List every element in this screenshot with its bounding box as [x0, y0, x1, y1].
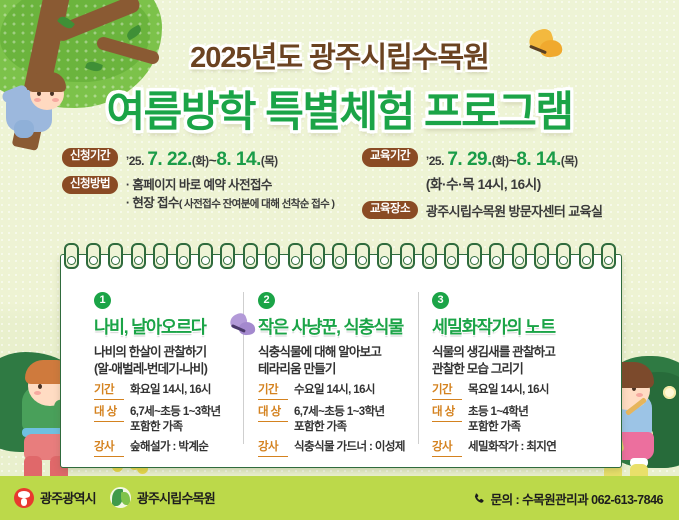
- spiral-binding: [60, 243, 620, 267]
- program-target-row: 대 상 6,7세~초등 1~3학년 포함한 가족: [94, 405, 260, 435]
- program-target-row: 대 상 초등 1~4학년 포함한 가족: [432, 405, 598, 435]
- apply-period-start: 7. 22.: [147, 149, 192, 170]
- program-period-label: 기간: [94, 383, 124, 400]
- program-target-line1: 6,7세~초등 1~3학년: [294, 406, 385, 418]
- program-period-value: 화요일 14시, 16시: [130, 383, 211, 400]
- apply-period-value: ’25. 7. 22.(화)~8. 14.(목): [126, 148, 278, 172]
- spiral-ring-icon: [512, 243, 527, 269]
- program-target-line2: 포함한 가족: [130, 421, 183, 433]
- program-teacher-value: 식충식물 가드너 : 이성제: [294, 440, 405, 457]
- program-desc-line1: 식물의 생김새를 관찰하고: [432, 345, 555, 359]
- spiral-ring-icon: [176, 243, 191, 269]
- program-period-row: 기간 화요일 14시, 16시: [94, 383, 260, 400]
- girl-sock: [630, 458, 648, 467]
- spiral-ring-icon: [332, 243, 347, 269]
- footer-logos: 광주광역시 광주시립수목원: [14, 487, 229, 508]
- eye-icon: [632, 386, 636, 391]
- spiral-ring-icon: [556, 243, 571, 269]
- phone-icon: [472, 492, 486, 506]
- program-desc-line2: (알-애벌레-번데기-나비): [94, 362, 207, 376]
- bush-right-inner: [612, 372, 679, 468]
- program-target-label: 대 상: [432, 405, 462, 422]
- program-period-value: 수요일 14시, 16시: [294, 383, 375, 400]
- spiral-ring-icon: [355, 243, 370, 269]
- edu-period-start: 7. 29.: [447, 149, 492, 170]
- footer-contact: 문의 : 수목원관리과 062-613-7846: [472, 489, 663, 508]
- butterfly-icon: [230, 314, 258, 338]
- spiral-ring-icon: [579, 243, 594, 269]
- apply-method-line1: · 홈페이지 바로 예약 사전접수: [126, 178, 272, 192]
- program-teacher-label: 강사: [258, 440, 288, 457]
- eye-icon: [38, 384, 42, 389]
- program-number-badge: 3: [432, 292, 449, 309]
- poster: 2025년도 광주시립수목원 여름방학 특별체험 프로그램 신청기간 ’25. …: [0, 0, 679, 520]
- program-period-label: 기간: [258, 383, 288, 400]
- program-card-3[interactable]: 3 세밀화작가의 노트 식물의 생김새를 관찰하고 관찰한 모습 그리기 기간 …: [432, 292, 598, 457]
- poster-title-line1: 2025년도 광주시립수목원: [0, 34, 679, 76]
- info-column-left: 신청기간 ’25. 7. 22.(화)~8. 14.(목) 신청방법 · 홈페이…: [62, 148, 362, 216]
- program-number-badge: 1: [94, 292, 111, 309]
- flower-icon: [622, 372, 635, 385]
- edu-place-row: 교육장소 광주시립수목원 방문자센터 교육실: [362, 201, 674, 220]
- spiral-ring-icon: [444, 243, 459, 269]
- program-target-line1: 초등 1~4학년: [468, 406, 528, 418]
- program-teacher-label: 강사: [432, 440, 462, 457]
- spiral-ring-icon: [153, 243, 168, 269]
- program-target-line1: 6,7세~초등 1~3학년: [130, 406, 221, 418]
- program-title: 작은 사냥꾼, 식충식물: [258, 314, 424, 339]
- program-teacher-value: 세밀화작가 : 최지연: [468, 440, 556, 457]
- program-desc-line2: 관찰한 모습 그리기: [432, 362, 523, 376]
- pencil-icon: [625, 397, 647, 416]
- program-target-label: 대 상: [94, 405, 124, 422]
- program-number-badge: 2: [258, 292, 275, 309]
- gwangju-city-logo: [14, 488, 34, 508]
- program-target-line2: 포함한 가족: [294, 421, 347, 433]
- program-card-2[interactable]: 2 작은 사냥꾼, 식충식물 식충식물에 대해 알아보고 테라리움 만들기 기간…: [258, 292, 424, 457]
- apply-period-end: 8. 14.: [216, 149, 261, 170]
- edu-period-badge: 교육기간: [362, 148, 418, 167]
- apply-method-value: · 홈페이지 바로 예약 사전접수 · 현장 접수( 사전접수 잔여분에 대해 …: [126, 176, 335, 212]
- spiral-ring-icon: [86, 243, 101, 269]
- arboretum-name: 광주시립수목원: [137, 488, 215, 507]
- program-description: 식충식물에 대해 알아보고 테라리움 만들기: [258, 344, 424, 378]
- edu-period-block: ’25. 7. 29.(화)~8. 14.(목) (화·수·목 14시, 16시…: [426, 148, 578, 197]
- edu-period-end-day: (목): [561, 156, 578, 168]
- program-teacher-row: 강사 세밀화작가 : 최지연: [432, 440, 598, 457]
- poster-title-line2: 여름방학 특별체험 프로그램: [0, 78, 679, 139]
- spiral-ring-icon: [265, 243, 280, 269]
- spiral-ring-icon: [64, 243, 79, 269]
- program-teacher-row: 강사 숲해설가 : 박계순: [94, 440, 260, 457]
- program-period-label: 기간: [432, 383, 462, 400]
- spiral-ring-icon: [108, 243, 123, 269]
- program-desc-line1: 나비의 한살이 관찰하기: [94, 345, 206, 359]
- program-target-value: 초등 1~4학년 포함한 가족: [468, 405, 528, 435]
- program-target-label: 대 상: [258, 405, 288, 422]
- edu-period-row: 교육기간 ’25. 7. 29.(화)~8. 14.(목) (화·수·목 14시…: [362, 148, 674, 197]
- contact-text: 문의 : 수목원관리과 062-613-7846: [491, 489, 663, 508]
- apply-period-end-day: (목): [261, 156, 278, 168]
- spiral-ring-icon: [400, 243, 415, 269]
- spiral-ring-icon: [422, 243, 437, 269]
- cheek: [34, 391, 41, 395]
- spiral-ring-icon: [198, 243, 213, 269]
- program-target-value: 6,7세~초등 1~3학년 포함한 가족: [294, 405, 385, 435]
- program-teacher-value: 숲해설가 : 박계순: [130, 440, 208, 457]
- program-period-row: 기간 목요일 14시, 16시: [432, 383, 598, 400]
- program-teacher-label: 강사: [94, 440, 124, 457]
- spiral-ring-icon: [243, 243, 258, 269]
- program-period-value: 목요일 14시, 16시: [468, 383, 549, 400]
- edu-period-year: ’25.: [426, 154, 444, 168]
- footer-bar: 광주광역시 광주시립수목원 문의 : 수목원관리과 062-613-7846: [0, 476, 679, 520]
- edu-period-start-day: (화): [492, 156, 509, 168]
- edu-period-times: (화·수·목 14시, 16시): [426, 173, 578, 193]
- arboretum-logo: [110, 487, 131, 508]
- flower-icon: [663, 386, 676, 399]
- spiral-ring-icon: [220, 243, 235, 269]
- flower-icon: [640, 428, 653, 441]
- apply-period-row: 신청기간 ’25. 7. 22.(화)~8. 14.(목): [62, 148, 362, 172]
- program-desc-line2: 테라리움 만들기: [258, 362, 336, 376]
- cheek: [636, 393, 643, 397]
- program-period-row: 기간 수요일 14시, 16시: [258, 383, 424, 400]
- info-column-right: 교육기간 ’25. 7. 29.(화)~8. 14.(목) (화·수·목 14시…: [362, 148, 674, 224]
- edu-period-end: 8. 14.: [516, 149, 561, 170]
- program-title: 세밀화작가의 노트: [432, 314, 598, 339]
- spiral-ring-icon: [288, 243, 303, 269]
- spiral-ring-icon: [601, 243, 616, 269]
- spiral-ring-icon: [310, 243, 325, 269]
- program-target-value: 6,7세~초등 1~3학년 포함한 가족: [130, 405, 221, 435]
- edu-period-value: ’25. 7. 29.(화)~8. 14.(목): [426, 152, 578, 168]
- apply-method-badge: 신청방법: [62, 176, 118, 195]
- info-section: 신청기간 ’25. 7. 22.(화)~8. 14.(목) 신청방법 · 홈페이…: [0, 148, 679, 232]
- program-description: 나비의 한살이 관찰하기 (알-애벌레-번데기-나비): [94, 344, 260, 378]
- apply-method-row: 신청방법 · 홈페이지 바로 예약 사전접수 · 현장 접수( 사전접수 잔여분…: [62, 176, 362, 212]
- program-teacher-row: 강사 식충식물 가드너 : 이성제: [258, 440, 424, 457]
- program-target-line2: 포함한 가족: [468, 421, 521, 433]
- program-description: 식물의 생김새를 관찰하고 관찰한 모습 그리기: [432, 344, 598, 378]
- apply-method-line2-note: ( 사전접수 잔여분에 대해 선착순 접수 ): [179, 198, 335, 210]
- apply-period-start-day: (화): [192, 156, 209, 168]
- apply-method-line2: · 현장 접수: [126, 196, 179, 210]
- leaf-icon: [57, 14, 75, 31]
- program-desc-line1: 식충식물에 대해 알아보고: [258, 345, 381, 359]
- apply-period-badge: 신청기간: [62, 148, 118, 167]
- spiral-ring-icon: [489, 243, 504, 269]
- spiral-ring-icon: [534, 243, 549, 269]
- program-card-1[interactable]: 1 나비, 날아오르다 나비의 한살이 관찰하기 (알-애벌레-번데기-나비) …: [94, 292, 260, 457]
- spiral-ring-icon: [377, 243, 392, 269]
- spiral-ring-icon: [131, 243, 146, 269]
- spiral-ring-icon: [467, 243, 482, 269]
- apply-period-year: ’25.: [126, 154, 144, 168]
- edu-place-value: 광주시립수목원 방문자센터 교육실: [426, 201, 602, 220]
- program-target-row: 대 상 6,7세~초등 1~3학년 포함한 가족: [258, 405, 424, 435]
- city-name: 광주광역시: [40, 488, 96, 507]
- edu-place-badge: 교육장소: [362, 201, 418, 220]
